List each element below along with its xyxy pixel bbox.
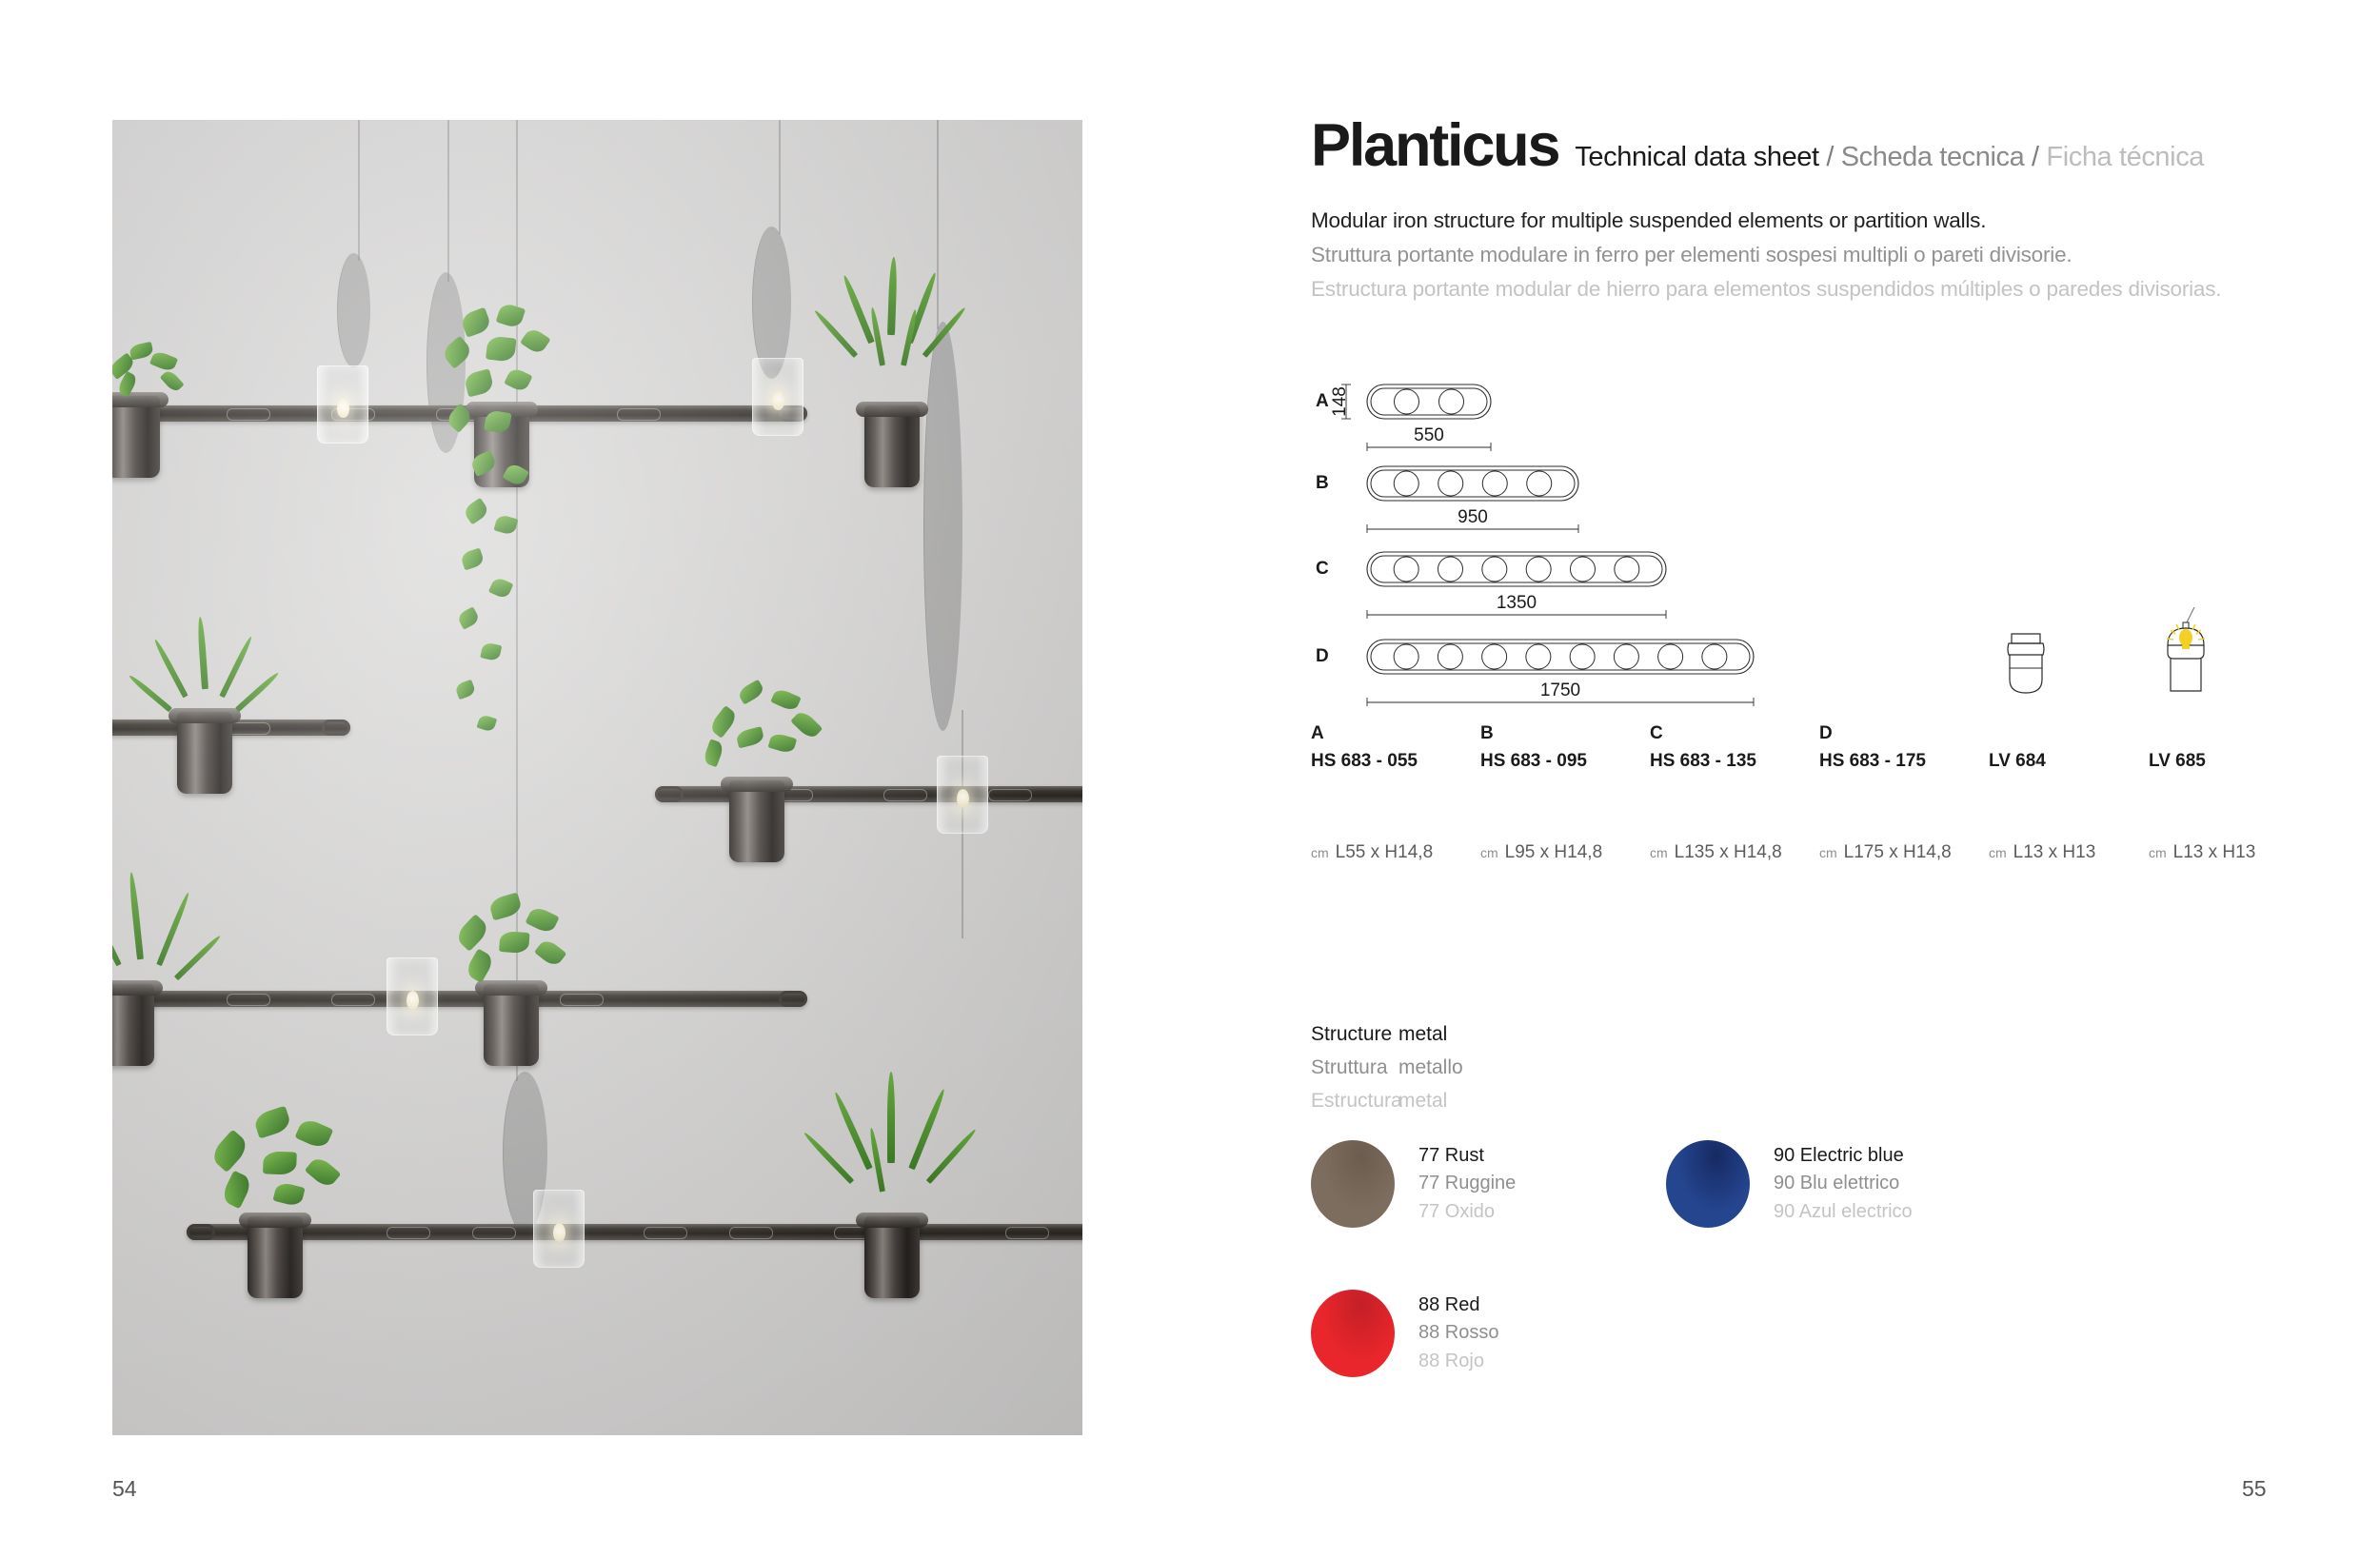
suspension-cable bbox=[752, 227, 791, 379]
leaf bbox=[484, 409, 511, 434]
rail-slot bbox=[227, 408, 270, 421]
pendant-lamp-icon bbox=[2152, 607, 2219, 720]
finish-swatch-rust: 77 Rust 77 Ruggine 77 Oxido bbox=[1311, 1140, 1516, 1228]
leaf bbox=[272, 1181, 305, 1208]
finish-name-es: 88 Rojo bbox=[1418, 1348, 1499, 1376]
rail-slot bbox=[387, 1227, 430, 1239]
structure-row-es: Estructura metal bbox=[1311, 1090, 1463, 1113]
frond bbox=[813, 308, 858, 358]
product-code: HS 683 - 055 bbox=[1311, 751, 1418, 772]
right-page: Planticus Technical data sheet / Scheda … bbox=[1190, 0, 2380, 1558]
product-code: HS 683 - 095 bbox=[1480, 751, 1587, 772]
product-code-table: AHS 683 - 055cmL55 x H14,8BHS 683 - 095c… bbox=[1311, 723, 2358, 866]
vase-icon bbox=[1993, 607, 2059, 720]
frond bbox=[174, 934, 222, 980]
planter-vessel bbox=[484, 984, 539, 1066]
dimension-unit: cm bbox=[1819, 845, 1837, 860]
product-column-hs683055: AHS 683 - 055cmL55 x H14,8 bbox=[1311, 723, 1418, 772]
frond bbox=[112, 892, 122, 966]
dimension-value: L135 x H14,8 bbox=[1675, 842, 1782, 862]
frond bbox=[833, 1091, 873, 1170]
dimension-unit: cm bbox=[1650, 845, 1668, 860]
structure-value-en: metal bbox=[1398, 1023, 1447, 1046]
light-bulb bbox=[553, 1223, 565, 1242]
structure-value-it: metallo bbox=[1398, 1056, 1463, 1079]
light-bulb bbox=[407, 991, 419, 1010]
finish-name-es: 77 Oxido bbox=[1418, 1198, 1516, 1227]
plant-palm bbox=[824, 1072, 977, 1229]
product-dimensions: cmL13 x H13 bbox=[2149, 842, 2255, 863]
frond bbox=[803, 1131, 854, 1184]
product-column-hs683135: CHS 683 - 135cmL135 x H14,8 bbox=[1650, 723, 1756, 772]
leaf bbox=[480, 641, 502, 661]
dimension-value: L175 x H14,8 bbox=[1844, 842, 1952, 862]
product-code: HS 683 - 175 bbox=[1819, 751, 1926, 772]
leaf bbox=[462, 498, 490, 525]
structure-row-it: Struttura metallo bbox=[1311, 1056, 1463, 1079]
leaf bbox=[534, 937, 566, 969]
finish-swatch-electric-blue: 90 Electric blue 90 Blu elettrico 90 Azu… bbox=[1666, 1140, 1913, 1228]
product-dimensions: cmL13 x H13 bbox=[1989, 842, 2095, 863]
light-bulb bbox=[772, 391, 784, 410]
plant-ivy bbox=[426, 301, 579, 853]
rail-slot bbox=[883, 789, 927, 801]
leaf bbox=[456, 606, 481, 629]
leaf bbox=[496, 302, 526, 329]
rail-slot bbox=[644, 1227, 687, 1239]
product-code: HS 683 - 135 bbox=[1650, 751, 1756, 772]
product-letter: A bbox=[1311, 723, 1418, 744]
leaf bbox=[464, 368, 495, 397]
light-bulb bbox=[337, 399, 349, 418]
drawing-c: 1350 bbox=[1300, 541, 1733, 619]
rail-slot bbox=[472, 1227, 516, 1239]
suspension-cable bbox=[779, 120, 781, 234]
frond bbox=[868, 1128, 885, 1193]
leaf bbox=[464, 949, 495, 983]
plant-pothos bbox=[196, 1110, 367, 1229]
drawing-a: 550148 bbox=[1300, 373, 1557, 451]
finish-name-en: 90 Electric blue bbox=[1774, 1142, 1913, 1171]
leaf bbox=[790, 709, 823, 741]
frond bbox=[926, 1128, 978, 1184]
leaf bbox=[160, 368, 185, 393]
swatch-color-rust bbox=[1311, 1140, 1395, 1228]
frond bbox=[128, 872, 144, 959]
leaf bbox=[294, 1116, 333, 1151]
product-letter: C bbox=[1650, 723, 1756, 744]
dimension-value: L13 x H13 bbox=[2013, 842, 2096, 862]
leaf bbox=[770, 687, 801, 713]
suspension-cable bbox=[358, 120, 360, 261]
product-code: LV 684 bbox=[1989, 751, 2046, 772]
pendant-lamp bbox=[937, 756, 988, 834]
rail-slot bbox=[331, 994, 375, 1006]
pendant-lamp bbox=[317, 365, 368, 444]
leaf bbox=[460, 547, 485, 570]
plant-ficus bbox=[684, 681, 845, 791]
leaf bbox=[735, 726, 764, 748]
drawing-d: 1750 bbox=[1300, 628, 1820, 706]
drawing-width-label: 1750 bbox=[1540, 680, 1580, 700]
drawing-b: 950 bbox=[1300, 455, 1645, 533]
swatch-color-red bbox=[1311, 1290, 1395, 1377]
leaf bbox=[252, 1106, 292, 1139]
leaf bbox=[440, 336, 473, 369]
product-dimensions: cmL95 x H14,8 bbox=[1480, 842, 1602, 863]
leaf bbox=[208, 1129, 251, 1173]
structure-label-en: Structure bbox=[1311, 1023, 1398, 1046]
finish-name-it: 90 Blu elettrico bbox=[1774, 1170, 1913, 1198]
product-code: LV 685 bbox=[2149, 751, 2206, 772]
rail-end-cap bbox=[655, 786, 684, 802]
frond bbox=[235, 671, 280, 712]
finish-name-es: 90 Azul electrico bbox=[1774, 1198, 1913, 1227]
rail-slot bbox=[1005, 1227, 1049, 1239]
rail-end-cap bbox=[779, 991, 807, 1007]
leaf bbox=[469, 450, 498, 477]
frond bbox=[156, 892, 190, 966]
leaf bbox=[220, 1171, 254, 1210]
product-column-lv684: LV 684cmL13 x H13 bbox=[1989, 723, 2046, 772]
finish-name-en: 88 Red bbox=[1418, 1292, 1499, 1320]
leaf bbox=[149, 349, 178, 373]
pendant-lamp bbox=[533, 1190, 585, 1268]
product-column-lv685: LV 685cmL13 x H13 bbox=[2149, 723, 2206, 772]
product-dimensions: cmL55 x H14,8 bbox=[1311, 842, 1433, 863]
leaf bbox=[129, 342, 154, 361]
leaf bbox=[488, 576, 514, 600]
page-number-left: 54 bbox=[112, 1476, 137, 1502]
suspension-cable bbox=[337, 253, 370, 367]
rail-slot bbox=[729, 1227, 773, 1239]
leaf bbox=[486, 336, 516, 363]
swatch-labels-electric-blue: 90 Electric blue 90 Blu elettrico 90 Azu… bbox=[1774, 1142, 1913, 1227]
drawing-width-label: 1350 bbox=[1497, 593, 1537, 613]
product-dimensions: cmL175 x H14,8 bbox=[1819, 842, 1952, 863]
leaf bbox=[476, 714, 497, 733]
frond bbox=[219, 636, 253, 699]
drawing-height-label: 148 bbox=[1330, 386, 1350, 417]
structure-value-es: metal bbox=[1398, 1090, 1447, 1113]
rail-end-cap bbox=[322, 720, 350, 736]
leaf bbox=[493, 514, 518, 536]
plant-spider bbox=[147, 615, 270, 724]
leaf bbox=[460, 307, 493, 338]
finish-name-en: 77 Rust bbox=[1418, 1142, 1516, 1171]
product-letter bbox=[2149, 723, 2206, 744]
leaf bbox=[454, 680, 476, 700]
dimension-unit: cm bbox=[1989, 845, 2007, 860]
plant-pothos bbox=[436, 896, 588, 996]
swatch-labels-rust: 77 Rust 77 Ruggine 77 Oxido bbox=[1418, 1142, 1516, 1227]
pendant-lamp bbox=[387, 957, 438, 1035]
dimension-value: L13 x H13 bbox=[2173, 842, 2256, 862]
leaf bbox=[768, 732, 798, 755]
leaf bbox=[499, 931, 529, 954]
frond bbox=[908, 1088, 946, 1170]
leaf bbox=[445, 404, 474, 433]
structure-label-es: Estructura bbox=[1311, 1090, 1398, 1113]
frond bbox=[887, 257, 898, 335]
leaf bbox=[526, 905, 560, 936]
product-column-hs683095: BHS 683 - 095cmL95 x H14,8 bbox=[1480, 723, 1587, 772]
finish-name-it: 88 Rosso bbox=[1418, 1319, 1499, 1348]
product-column-hs683175: DHS 683 - 175cmL175 x H14,8 bbox=[1819, 723, 1926, 772]
product-letter: D bbox=[1819, 723, 1926, 744]
drawing-width-label: 950 bbox=[1458, 507, 1488, 527]
rail-slot bbox=[227, 994, 270, 1006]
product-photograph bbox=[112, 120, 1082, 1435]
left-page bbox=[0, 0, 1190, 1558]
frond bbox=[128, 674, 172, 713]
structure-block: Structure metal Struttura metallo Estruc… bbox=[1311, 1023, 1463, 1113]
frond bbox=[887, 1072, 895, 1163]
planter-vessel bbox=[729, 780, 784, 862]
frond bbox=[197, 617, 208, 689]
light-bulb bbox=[957, 789, 969, 808]
rail-slot bbox=[988, 789, 1032, 801]
leaf bbox=[263, 1151, 297, 1174]
leaf bbox=[502, 462, 529, 487]
leaf bbox=[737, 680, 766, 705]
dimension-value: L55 x H14,8 bbox=[1336, 842, 1433, 862]
leaf bbox=[504, 366, 532, 393]
structure-row-en: Structure metal bbox=[1311, 1023, 1463, 1046]
leaf bbox=[305, 1154, 342, 1190]
plant bbox=[112, 325, 208, 410]
frond bbox=[152, 639, 188, 699]
page-number-right: 55 bbox=[2242, 1476, 2267, 1502]
plant-dracaena bbox=[112, 872, 217, 996]
frond bbox=[922, 306, 967, 358]
leaf bbox=[708, 705, 740, 739]
planter-vessel bbox=[864, 405, 920, 487]
frond bbox=[842, 274, 875, 344]
structure-label-it: Struttura bbox=[1311, 1056, 1398, 1079]
planter-vessel bbox=[112, 984, 154, 1066]
swatch-color-electric-blue bbox=[1666, 1140, 1750, 1228]
plant-palm bbox=[826, 253, 969, 415]
product-dimensions: cmL135 x H14,8 bbox=[1650, 842, 1782, 863]
swatch-labels-red: 88 Red 88 Rosso 88 Rojo bbox=[1418, 1292, 1499, 1376]
leaf bbox=[453, 914, 490, 952]
frond bbox=[901, 309, 918, 366]
dimension-value: L95 x H14,8 bbox=[1505, 842, 1602, 862]
dimension-unit: cm bbox=[2149, 845, 2167, 860]
leaf bbox=[488, 892, 524, 920]
leaf bbox=[703, 739, 725, 767]
drawing-width-label: 550 bbox=[1414, 425, 1444, 445]
finish-name-it: 77 Ruggine bbox=[1418, 1170, 1516, 1198]
leaf bbox=[520, 326, 550, 356]
suspension-cable bbox=[447, 120, 449, 282]
pendant-lamp bbox=[752, 358, 803, 436]
product-letter bbox=[1989, 723, 2046, 744]
finish-swatch-red: 88 Red 88 Rosso 88 Rojo bbox=[1311, 1290, 1499, 1377]
dimension-unit: cm bbox=[1480, 845, 1498, 860]
rail-slot bbox=[617, 408, 661, 421]
dimension-unit: cm bbox=[1311, 845, 1329, 860]
product-letter: B bbox=[1480, 723, 1587, 744]
